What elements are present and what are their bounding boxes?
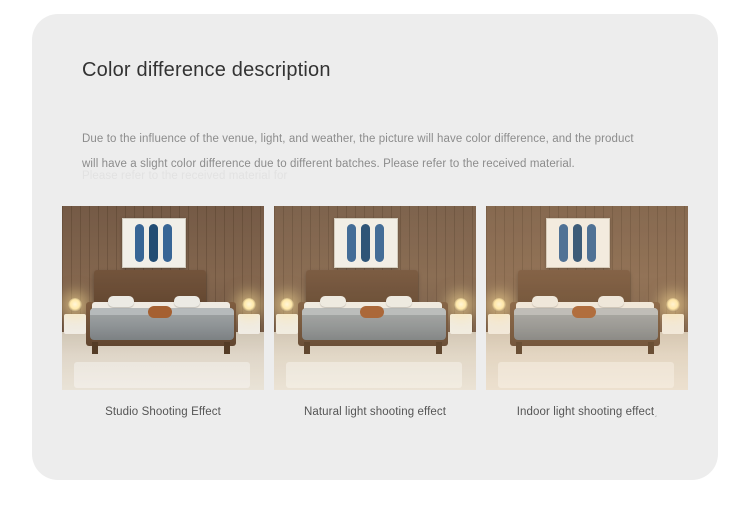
- light-tint-overlay: [486, 206, 688, 390]
- description-text: Due to the influence of the venue, light…: [82, 127, 642, 177]
- caption-text: Indoor light shooting effect: [517, 406, 655, 418]
- gallery-item-caption: Studio Shooting Effect: [62, 406, 264, 418]
- gallery-item[interactable]: Indoor light shooting effectˏ: [486, 206, 688, 418]
- photo-gallery: Studio Shooting Effect: [62, 206, 688, 418]
- caption-mark: ˏ: [654, 407, 657, 417]
- gallery-item-caption: Natural light shooting effect: [274, 406, 476, 418]
- page-root: Color difference description Due to the …: [0, 0, 750, 522]
- light-tint-overlay: [62, 206, 264, 390]
- page-title: Color difference description: [82, 58, 562, 83]
- bedroom-photo-indoor[interactable]: [486, 206, 688, 390]
- gallery-item-caption: Indoor light shooting effectˏ: [486, 406, 688, 418]
- color-difference-panel: Color difference description Due to the …: [32, 14, 718, 480]
- bedroom-photo-natural[interactable]: [274, 206, 476, 390]
- gallery-item[interactable]: Studio Shooting Effect: [62, 206, 264, 418]
- bedroom-photo-studio[interactable]: [62, 206, 264, 390]
- gallery-item[interactable]: Natural light shooting effect: [274, 206, 476, 418]
- light-tint-overlay: [274, 206, 476, 390]
